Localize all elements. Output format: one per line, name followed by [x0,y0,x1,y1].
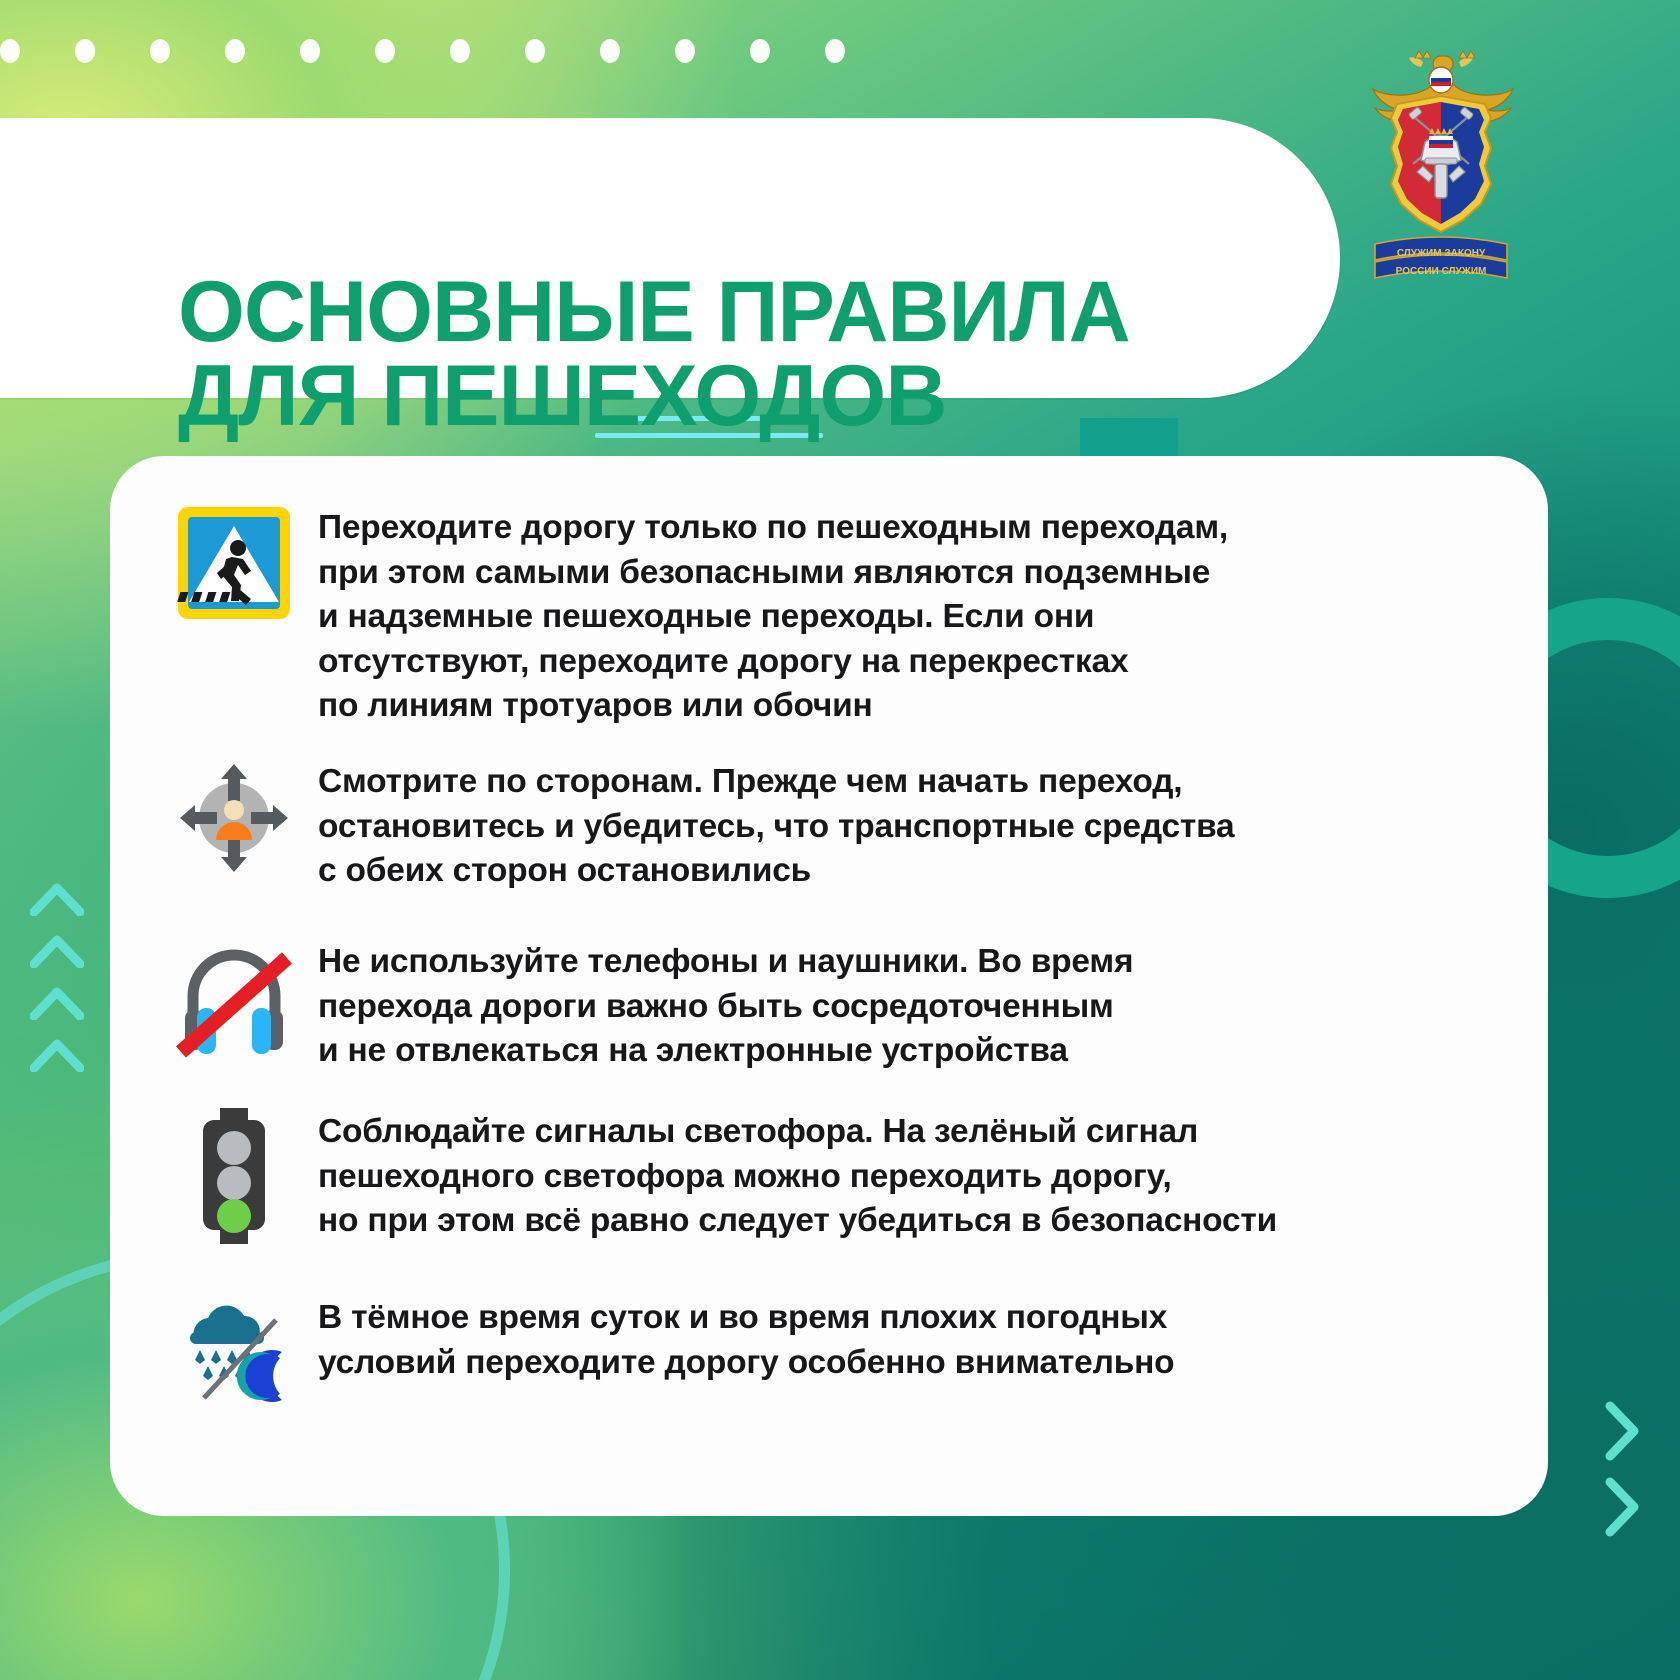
decorative-dot [675,39,695,63]
chevron-up-icon [30,880,84,916]
chevron-right-icon [1602,1476,1642,1538]
rule-item: Соблюдайте сигналы светофора. На зелёный… [150,1108,1520,1244]
chevron-up-icon [30,932,84,968]
decorative-dot [600,39,620,63]
rule-text: Переходите дорогу только по пешеходным п… [318,504,1520,729]
rule-text: Смотрите по сторонам. Прежде чем начать … [318,758,1520,894]
decorative-dot [75,39,95,63]
decorative-dot [525,39,545,63]
decorative-dot [225,39,245,63]
title-card: ОСНОВНЫЕ ПРАВИЛА ДЛЯ ПЕШЕХОДОВ [0,118,1340,398]
rule-item: Переходите дорогу только по пешеходным п… [150,504,1520,729]
rule-text: Соблюдайте сигналы светофора. На зелёный… [318,1108,1520,1244]
rule-item: В тёмное время суток и во время плохих п… [150,1294,1520,1406]
decorative-dot [750,39,770,63]
decorative-dot [450,39,470,63]
mvd-russia-emblem: СЛУЖИМ ЗАКОНУ РОССИИ СЛУЖИМ [1365,48,1517,293]
decorative-dot [375,39,395,63]
motto-ribbon: СЛУЖИМ ЗАКОНУ РОССИИ СЛУЖИМ [1375,237,1507,278]
decorative-dot [0,39,20,63]
rule-text: В тёмное время суток и во время плохих п… [318,1294,1520,1385]
pedestrian-crossing-sign-icon [150,504,318,622]
motto-line-1: СЛУЖИМ ЗАКОНУ [1397,248,1486,259]
infographic-poster: ОСНОВНЫЕ ПРАВИЛА ДЛЯ ПЕШЕХОДОВ [0,0,1680,1680]
look-both-ways-icon [150,758,318,878]
decorative-chevrons-right [1602,1400,1642,1552]
rule-item: Не используйте телефоны и наушники. Во в… [150,938,1520,1074]
decorative-dot [150,39,170,63]
chevron-up-icon [30,984,84,1020]
traffic-light-icon [150,1108,318,1244]
decorative-chevrons-left [30,880,84,1088]
rule-item: Смотрите по сторонам. Прежде чем начать … [150,758,1520,894]
chevron-right-icon [1602,1400,1642,1462]
rule-text: Не используйте телефоны и наушники. Во в… [318,938,1520,1074]
no-headphones-icon [150,938,318,1060]
chevron-up-icon [30,1036,84,1072]
decorative-dot [825,39,845,63]
decorative-dot [300,39,320,63]
motto-line-2: РОССИИ СЛУЖИМ [1396,266,1487,277]
rules-card: Переходите дорогу только по пешеходным п… [110,456,1548,1516]
rain-and-night-icon [150,1294,318,1406]
decorative-dots-row [0,38,1560,64]
page-title: ОСНОВНЫЕ ПРАВИЛА ДЛЯ ПЕШЕХОДОВ [178,270,1278,439]
